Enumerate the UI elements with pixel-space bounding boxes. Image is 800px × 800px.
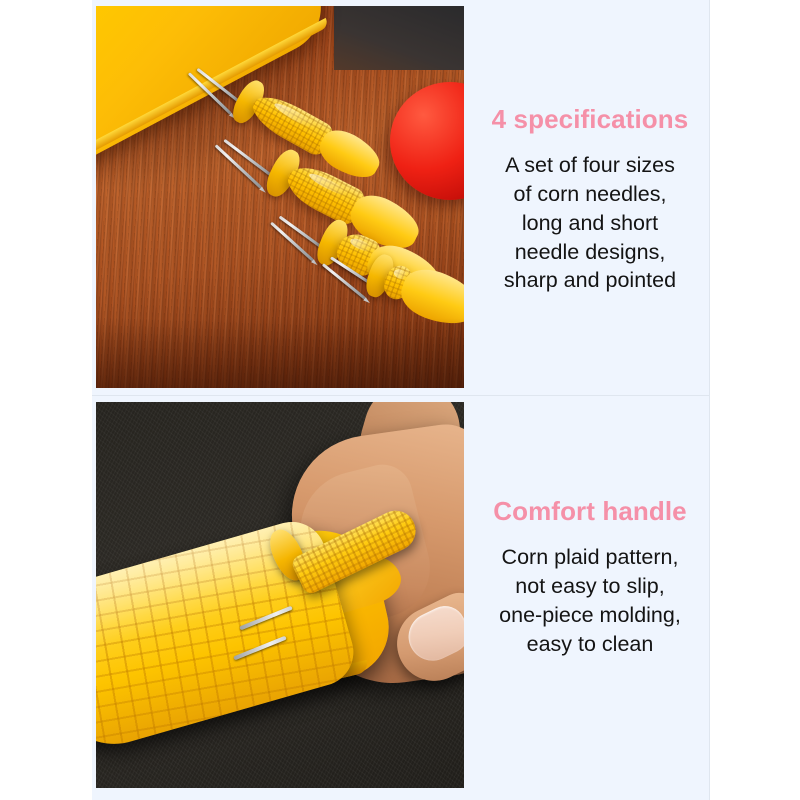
section-comfort-handle: Comfort handle Corn plaid pattern, not e… [92, 396, 710, 800]
comfort-handle-headline: Comfort handle [476, 496, 704, 527]
corn-needles-on-wooden-board-photo [96, 6, 464, 388]
specifications-headline: 4 specifications [476, 104, 704, 135]
comfort-handle-text-column: Comfort handle Corn plaid pattern, not e… [464, 396, 710, 658]
specifications-text-column: 4 specifications A set of four sizes of … [464, 0, 710, 295]
comfort-handle-body-text: Corn plaid pattern, not easy to slip, on… [476, 543, 704, 658]
section-specifications: 4 specifications A set of four sizes of … [92, 0, 710, 395]
hand-holding-corn-needle-photo [96, 402, 464, 788]
product-infographic-page: 4 specifications A set of four sizes of … [0, 0, 800, 800]
dark-backdrop-strip [334, 6, 464, 70]
board-edge-shadow [96, 318, 464, 388]
specifications-body-text: A set of four sizes of corn needles, lon… [476, 151, 704, 295]
tray-highlight [96, 6, 161, 49]
